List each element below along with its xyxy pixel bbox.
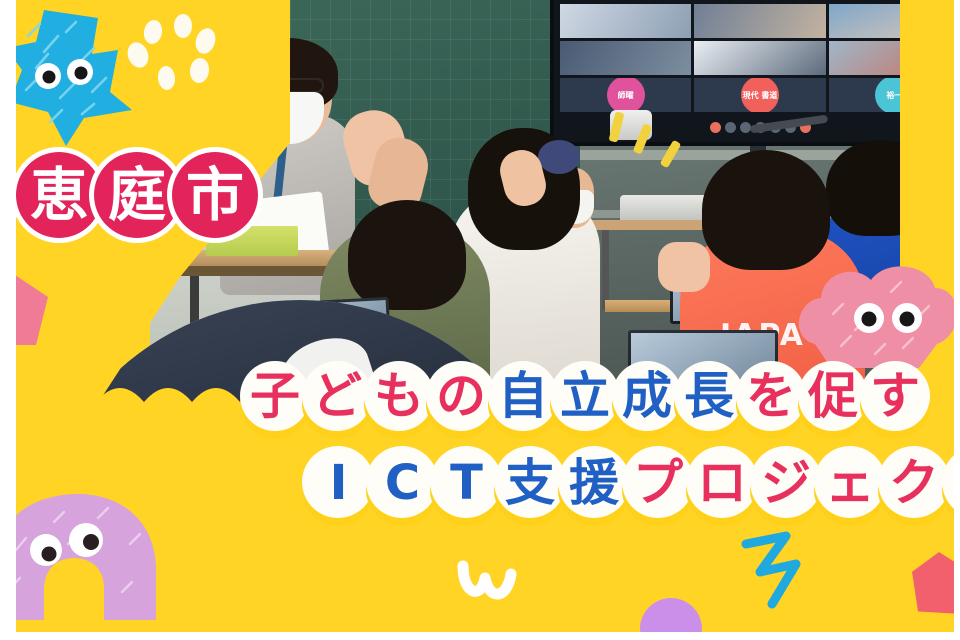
headline-char: ク	[889, 458, 939, 508]
badge-char: 市	[172, 152, 258, 238]
headline-char: 成	[622, 371, 672, 421]
white-squiggle	[455, 560, 545, 610]
headline-line-2: ICT支援プロジェクト	[300, 443, 960, 527]
dot	[174, 14, 192, 38]
badge-circle: 市	[172, 152, 258, 238]
headline-line-1: 子どもの自立成長を促す	[238, 358, 920, 438]
frame-edge-left	[0, 0, 16, 640]
frame-edge-right	[954, 0, 960, 640]
headline-char: 自	[498, 371, 548, 421]
vc-tile: 現代 書道	[694, 78, 825, 112]
vc-tile	[694, 41, 825, 75]
yellow-chalk-dashes	[610, 110, 700, 170]
student-hand	[658, 242, 710, 292]
poster-canvas: 師曜 現代 書道 裕一	[0, 0, 960, 640]
hair-scrunchie	[538, 140, 580, 174]
chalk-dash	[660, 140, 682, 169]
side-table-leg	[602, 230, 609, 310]
mic-icon	[710, 122, 721, 133]
student-hair	[702, 150, 830, 270]
vc-tile	[560, 41, 691, 75]
dot	[188, 57, 210, 84]
share-screen-icon	[740, 122, 751, 133]
headline-char: ジ	[761, 458, 811, 508]
chalk-dash	[609, 111, 625, 142]
headline-char: 促	[808, 371, 858, 421]
headline-char: I	[330, 459, 347, 507]
headline-char: プ	[633, 458, 683, 508]
purple-arch-mascot	[0, 492, 160, 622]
headline-char: C	[385, 459, 419, 507]
camera-icon	[725, 122, 736, 133]
blue-zigzag-icon	[740, 530, 820, 610]
headline-char: ェ	[825, 458, 875, 508]
headline-char: 援	[569, 458, 619, 508]
vc-tile: 師曜	[560, 78, 691, 112]
headline-char: T	[450, 459, 482, 507]
headline-char: を	[746, 371, 796, 421]
chalk-dash	[633, 123, 653, 154]
vc-avatar: 師曜	[607, 78, 645, 112]
dot	[192, 26, 218, 57]
enwa-city-badge: 恵 庭 市	[16, 152, 250, 238]
headline-char: も	[374, 371, 424, 421]
vc-tile	[694, 4, 825, 38]
headline-char: ロ	[697, 458, 747, 508]
headline-char: 支	[505, 458, 555, 508]
headline-char-bubble: す	[858, 358, 932, 438]
blue-blob-mascot	[6, 6, 146, 146]
headline-char: ど	[312, 371, 362, 421]
frame-edge-bottom	[0, 632, 960, 640]
dot	[157, 65, 176, 91]
headline-char: 子	[250, 371, 300, 421]
headline-char: ト	[953, 458, 960, 508]
headline-char: す	[870, 371, 920, 421]
headline-char: の	[436, 371, 486, 421]
vc-tile	[560, 4, 691, 38]
student-hair	[348, 200, 466, 310]
headline-char: 立	[560, 371, 610, 421]
vc-avatar: 現代 書道	[741, 78, 779, 112]
headline-char: 長	[684, 371, 734, 421]
